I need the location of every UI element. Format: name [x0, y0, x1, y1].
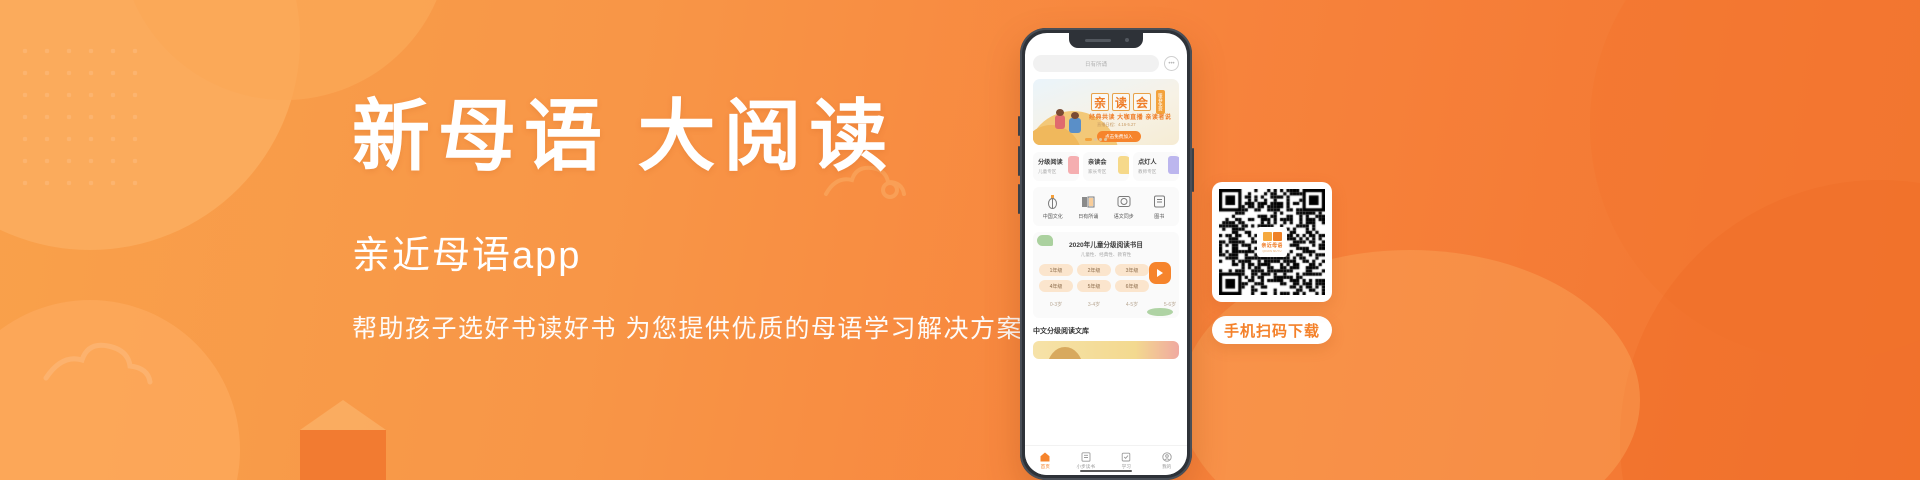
decorative-blob-bottom-left: [0, 300, 240, 480]
carousel-dot-2[interactable]: [1094, 138, 1097, 141]
booklist-title: 2020年儿童分级阅读书目: [1039, 239, 1173, 249]
search-input[interactable]: 日有所诵: [1033, 55, 1159, 72]
grade-chip[interactable]: 2年级: [1077, 264, 1111, 276]
quick-icon-label: 中国文化: [1043, 213, 1063, 220]
qr-code[interactable]: 亲近母语 QINJIN MUYU: [1212, 182, 1332, 302]
carousel-dots[interactable]: [1085, 138, 1107, 141]
open-book-icon: [1081, 194, 1096, 209]
book-logo-icon: [1263, 232, 1282, 241]
nav-item-study[interactable]: 学习: [1106, 451, 1147, 470]
promo-date: 直播日程：4.16-5.27: [1097, 122, 1136, 128]
nav-item-profile[interactable]: 我的: [1147, 451, 1188, 470]
home-indicator: [1080, 470, 1132, 473]
booklist-section: 2020年儿童分级阅读书目 儿童性、经典性、教育性 1年级 2年级 3年级 4年…: [1033, 232, 1179, 318]
download-button[interactable]: 手机扫码下载: [1212, 316, 1332, 344]
category-card-teacher[interactable]: 点灯人 教师专区: [1133, 152, 1179, 181]
user-icon: [1161, 451, 1172, 462]
grade-chip[interactable]: 6年级: [1115, 280, 1149, 292]
age-chip[interactable]: 3-4岁: [1077, 298, 1111, 310]
library-section-title: 中文分级阅读文库: [1033, 326, 1179, 336]
phone-notch: [1069, 33, 1143, 48]
promo-child-illustration-1: [1055, 115, 1065, 129]
page-title: 新母语 大阅读: [352, 92, 1032, 182]
decorative-blob-top-left-2: [120, 0, 450, 100]
decorative-dot-grid: [14, 40, 154, 200]
camera-icon: [1116, 194, 1131, 209]
grade-chip[interactable]: 4年级: [1039, 280, 1073, 292]
qr-section: 亲近母语 QINJIN MUYU 手机扫码下载: [1212, 182, 1332, 344]
promo-badge: 暖春免费: [1156, 90, 1165, 114]
video-play-button[interactable]: [1149, 262, 1171, 284]
grade-chip[interactable]: 3年级: [1115, 264, 1149, 276]
age-chip[interactable]: 0-3岁: [1039, 298, 1073, 310]
phone-volume-up-button: [1018, 146, 1020, 176]
nav-item-home[interactable]: 首页: [1025, 451, 1066, 470]
qr-logo-subtitle: QINJIN MUYU: [1262, 250, 1281, 253]
carousel-dot-1[interactable]: [1085, 138, 1092, 141]
grade-chip-group: 1年级 2年级 3年级 4年级 5年级 6年级: [1039, 264, 1157, 292]
bookmark-icon: [1168, 156, 1179, 174]
book-icon: [1152, 194, 1167, 209]
promotional-banner: 新母语 大阅读 亲近母语app 帮助孩子选好书读好书 为您提供优质的母语学习解决…: [0, 0, 1920, 480]
quick-icon-daily-recitation[interactable]: 日有所诵: [1071, 194, 1107, 220]
decorative-cube: [300, 430, 386, 480]
category-card-graded-reading[interactable]: 分级阅读 儿童专区: [1033, 152, 1079, 181]
promo-title: 亲 读 会 暖春免费: [1091, 90, 1165, 114]
bookmark-icon: [1068, 156, 1079, 174]
leaf-decoration-icon: [1037, 235, 1053, 246]
speaker-grille: [1085, 39, 1111, 42]
promo-child-illustration-2: [1069, 118, 1081, 133]
decorative-blob-right-2: [1620, 180, 1920, 480]
nav-label: 首页: [1041, 464, 1050, 470]
leaf-decoration-icon-2: [1147, 308, 1173, 316]
booklist-subtitle: 儿童性、经典性、教育性: [1039, 252, 1173, 258]
book-list-icon: [1080, 451, 1091, 462]
promo-title-char-2: 读: [1112, 93, 1130, 111]
clipboard-icon: [1121, 451, 1132, 462]
qr-center-logo: 亲近母语 QINJIN MUYU: [1257, 227, 1287, 257]
home-icon: [1040, 451, 1051, 462]
category-cards: 分级阅读 儿童专区 亲读会 家长专区 点灯人 教师专区: [1033, 152, 1179, 181]
promo-banner[interactable]: 亲 读 会 暖春免费 经典共读 大咖直播 亲读者说 直播日程：4.16-5.27…: [1033, 79, 1179, 145]
message-icon[interactable]: •••: [1164, 56, 1179, 71]
phone-mute-switch: [1018, 116, 1020, 136]
quick-icon-chinese-sync[interactable]: 语文同步: [1106, 194, 1142, 220]
tagline: 帮助孩子选好书读好书 为您提供优质的母语学习解决方案: [352, 309, 1032, 345]
library-banner[interactable]: [1033, 341, 1179, 359]
nav-item-reading[interactable]: 小步读书: [1066, 451, 1107, 470]
library-illustration: [1047, 347, 1083, 359]
app-name: 亲近母语app: [352, 224, 1032, 279]
carousel-dot-3[interactable]: [1099, 138, 1102, 141]
quick-icon-label: 日有所诵: [1078, 213, 1098, 220]
nav-label: 我的: [1162, 464, 1171, 470]
quick-icon-books[interactable]: 图书: [1142, 194, 1178, 220]
grade-chip[interactable]: 5年级: [1077, 280, 1111, 292]
phone-screen: 日有所诵 ••• 亲 读 会 暖春免费 经典共读 大咖直播 亲读者说: [1025, 33, 1187, 475]
app-screen-content: 日有所诵 ••• 亲 读 会 暖春免费 经典共读 大咖直播 亲读者说: [1025, 33, 1187, 359]
lantern-icon: [1045, 194, 1060, 209]
search-row: 日有所诵 •••: [1033, 55, 1179, 72]
bookmark-icon: [1118, 156, 1129, 174]
phone-power-button: [1192, 148, 1194, 192]
decorative-cloud-icon-2: [40, 330, 160, 390]
quick-icon-label: 图书: [1154, 213, 1164, 220]
quick-icon-chinese-culture[interactable]: 中国文化: [1035, 194, 1071, 220]
category-card-parent-club[interactable]: 亲读会 家长专区: [1083, 152, 1129, 181]
quick-icon-label: 语文同步: [1114, 213, 1134, 220]
promo-title-char-1: 亲: [1091, 93, 1109, 111]
decorative-blob-right: [1590, 0, 1920, 360]
phone-mockup: 日有所诵 ••• 亲 读 会 暖春免费 经典共读 大咖直播 亲读者说: [1020, 28, 1192, 480]
play-triangle-icon: [1157, 269, 1163, 277]
carousel-dot-4[interactable]: [1104, 138, 1107, 141]
headline-block: 新母语 大阅读 亲近母语app 帮助孩子选好书读好书 为您提供优质的母语学习解决…: [352, 92, 1032, 345]
qr-logo-name: 亲近母语: [1261, 242, 1282, 249]
promo-title-char-3: 会: [1133, 93, 1151, 111]
grade-chip[interactable]: 1年级: [1039, 264, 1073, 276]
front-camera-icon: [1125, 38, 1129, 42]
age-chip[interactable]: 4-5岁: [1115, 298, 1149, 310]
quick-access-icon-row: 中国文化 日有所诵: [1033, 187, 1179, 226]
phone-volume-down-button: [1018, 184, 1020, 214]
promo-subtitle: 经典共读 大咖直播 亲读者说: [1089, 112, 1171, 121]
